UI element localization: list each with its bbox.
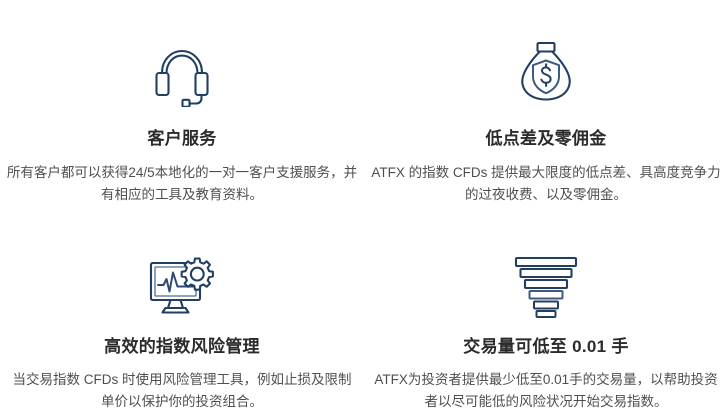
monitor-chart-gear-icon xyxy=(148,206,216,317)
headset-icon xyxy=(151,0,213,107)
feature-description: 所有客户都可以获得24/5本地化的一对一客户支援服务，并有相应的工具及教育资料。 xyxy=(6,162,358,206)
feature-card-min-lot-size: 交易量可低至 0.01 手 ATFX为投资者提供最少低至0.01手的交易量，以帮… xyxy=(364,206,728,413)
feature-title: 交易量可低至 0.01 手 xyxy=(463,337,628,357)
feature-title: 低点差及零佣金 xyxy=(485,129,606,149)
features-grid: 客户服务 所有客户都可以获得24/5本地化的一对一客户支援服务，并有相应的工具及… xyxy=(0,0,728,413)
feature-title: 高效的指数风险管理 xyxy=(104,337,260,357)
feature-card-customer-service: 客户服务 所有客户都可以获得24/5本地化的一对一客户支援服务，并有相应的工具及… xyxy=(0,0,364,206)
feature-description: 当交易指数 CFDs 时使用风险管理工具，例如止损及限制单价以保护你的投资组合。 xyxy=(6,369,358,413)
feature-description: ATFX 的指数 CFDs 提供最大限度的低点差、具高度竞争力的过夜收费、以及零… xyxy=(370,162,722,206)
money-bag-shield-dollar-icon xyxy=(516,0,576,104)
feature-card-risk-management: 高效的指数风险管理 当交易指数 CFDs 时使用风险管理工具，例如止损及限制单价… xyxy=(0,206,364,413)
feature-card-low-spread: 低点差及零佣金 ATFX 的指数 CFDs 提供最大限度的低点差、具高度竞争力的… xyxy=(364,0,728,206)
feature-title: 客户服务 xyxy=(147,129,216,149)
feature-description: ATFX为投资者提供最少低至0.01手的交易量，以帮助投资者以尽可能低的风险状况… xyxy=(370,369,722,413)
funnel-bars-icon xyxy=(514,206,578,318)
